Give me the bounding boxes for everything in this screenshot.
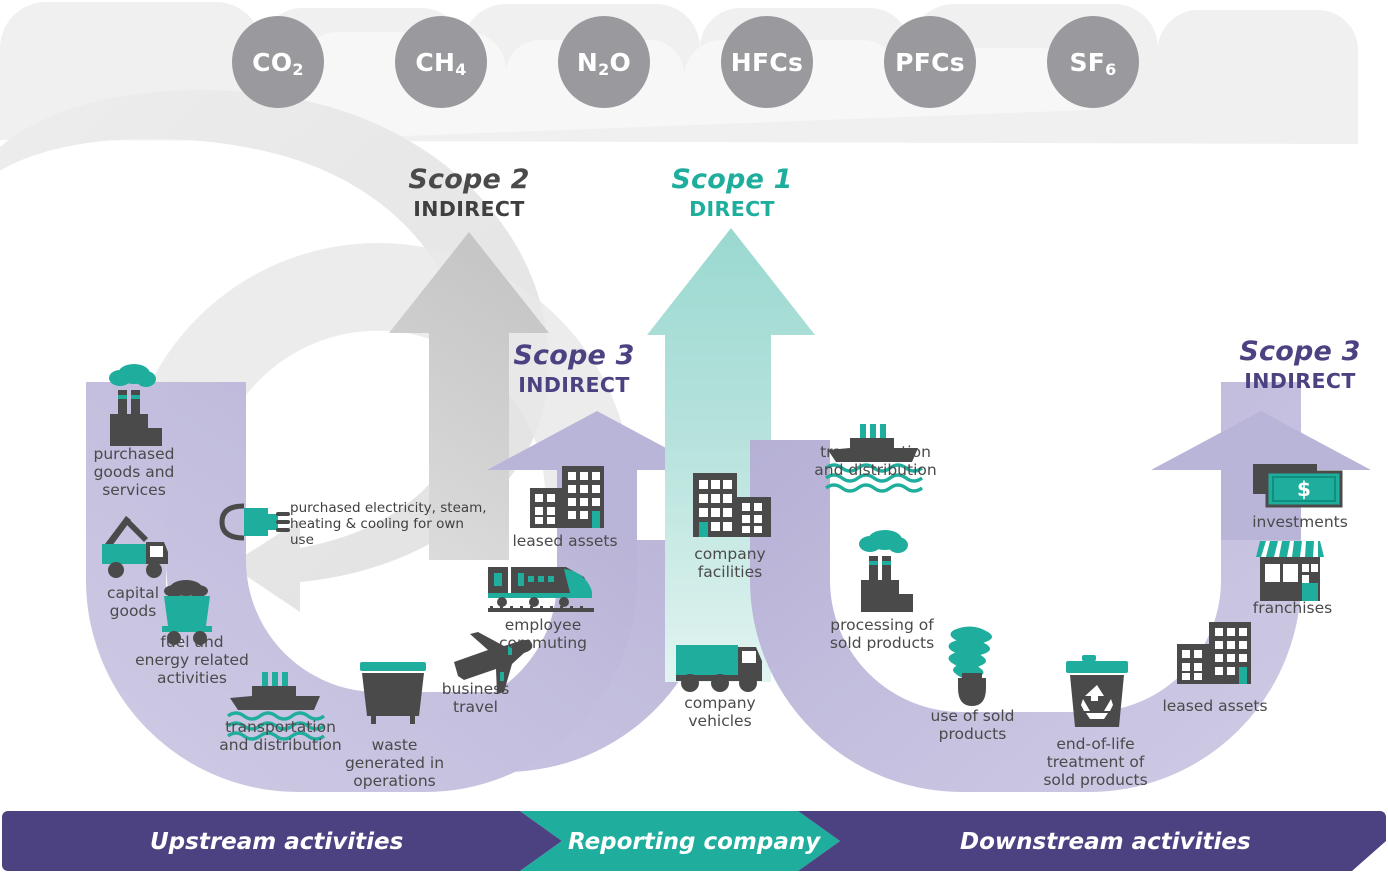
banner-upstream-label: Upstream activities [150,829,380,855]
label-text: franchises [1253,599,1333,617]
scope-3-downstream-kind: INDIRECT [1200,369,1388,393]
label-upstream-leased-assets: leased assets [505,533,625,551]
label-text: purchasedgoods andservices [94,445,175,499]
factory-icon [859,530,913,612]
label-text: processing ofsold products [830,616,934,652]
scope-3-upstream-name: Scope 3 [474,340,674,371]
label-upstream-transportation-and-distribution: transportationand distribution [203,719,358,755]
label-text: end-of-lifetreatment ofsold products [1043,735,1147,789]
label-downstream-leased-assets: leased assets [1155,698,1275,716]
gas-circle-co2: CO2 [232,16,324,108]
label-investments: investments [1240,514,1360,532]
label-text: employeecommuting [499,616,587,652]
svg-text:$: $ [1297,477,1311,501]
gas-label: CH4 [415,48,466,77]
banner-text: Reporting company [568,829,820,855]
label-waste-generated-in-operations: wastegenerated inoperations [337,737,452,791]
label-use-of-sold-products: use of soldproducts [915,708,1030,744]
label-text: companyfacilities [694,545,765,581]
label-text: transportationand distribution [814,443,936,479]
label-end-of-life-treatment-of-sold-products: end-of-lifetreatment ofsold products [1033,736,1158,790]
office-buildings-icon [530,466,604,528]
label-text: investments [1252,513,1348,531]
label-text: businesstravel [442,680,510,716]
delivery-truck-icon [676,645,762,692]
ghg-scopes-diagram: $ CO2 CH4 N2O HFCs PFCs SF6 Scope 2 INDI… [0,0,1388,877]
gas-circle-sf6: SF6 [1047,16,1139,108]
label-fuel-and-energy-related-activities: fuel andenergy relatedactivities [122,634,262,688]
scope-1-label: Scope 1 DIRECT [632,164,832,221]
label-processing-of-sold-products: processing ofsold products [812,617,952,653]
gas-circle-pfcs: PFCs [884,16,976,108]
scope-2-label: Scope 2 INDIRECT [369,164,569,221]
gas-label: CO2 [252,48,304,77]
banner-downstream-label: Downstream activities [960,829,1220,855]
gas-label: PFCs [895,48,965,77]
scope-2-kind: INDIRECT [369,197,569,221]
label-text: wastegenerated inoperations [345,736,444,790]
gas-label: HFCs [731,48,803,77]
scope-2-name: Scope 2 [369,164,569,195]
label-business-travel: businesstravel [428,681,523,717]
gas-circle-ch4: CH4 [395,16,487,108]
gas-circle-n2o: N2O [558,16,650,108]
label-purchased-goods-and-services: purchasedgoods andservices [73,446,195,500]
note-line-1: purchased electricity, steam, [290,500,490,516]
label-employee-commuting: employeecommuting [483,617,603,653]
label-text: fuel andenergy relatedactivities [135,633,249,687]
banner-text: Upstream activities [150,829,403,855]
label-text: capitalgoods [107,584,159,620]
waste-bin-icon [360,662,426,724]
scope-3-upstream-label: Scope 3 INDIRECT [474,340,674,397]
note-line-2: heating & cooling for own use [290,516,490,548]
label-franchises: franchises [1240,600,1345,618]
scope-3-upstream-kind: INDIRECT [474,373,674,397]
lightbulb-icon [949,626,993,706]
label-text: transportationand distribution [219,718,341,754]
label-text: leased assets [512,532,617,550]
scope-3-downstream-name: Scope 3 [1200,336,1388,367]
banner-text: Downstream activities [960,829,1251,855]
label-text: companyvehicles [684,694,755,730]
recycle-bin-icon [1066,655,1128,727]
money-icon: $ [1253,464,1341,506]
gas-label: N2O [577,48,631,77]
scope-1-kind: DIRECT [632,197,832,221]
label-text: leased assets [1162,697,1267,715]
scope-1-name: Scope 1 [632,164,832,195]
office-buildings-icon [1177,622,1251,684]
gas-label: SF6 [1069,48,1116,77]
label-company-vehicles: companyvehicles [660,695,780,731]
label-downstream-transportation-and-distribution: transportationand distribution [798,444,953,480]
label-capital-goods: capitalgoods [78,585,188,621]
label-text: use of soldproducts [931,707,1015,743]
label-company-facilities: companyfacilities [670,546,790,582]
banner-reporting-label: Reporting company [568,829,798,855]
label-purchased-electricity-note: purchased electricity, steam, heating & … [290,500,490,549]
scope-3-downstream-label: Scope 3 INDIRECT [1200,336,1388,393]
gas-circle-hfcs: HFCs [721,16,813,108]
storefront-icon [1256,541,1324,601]
